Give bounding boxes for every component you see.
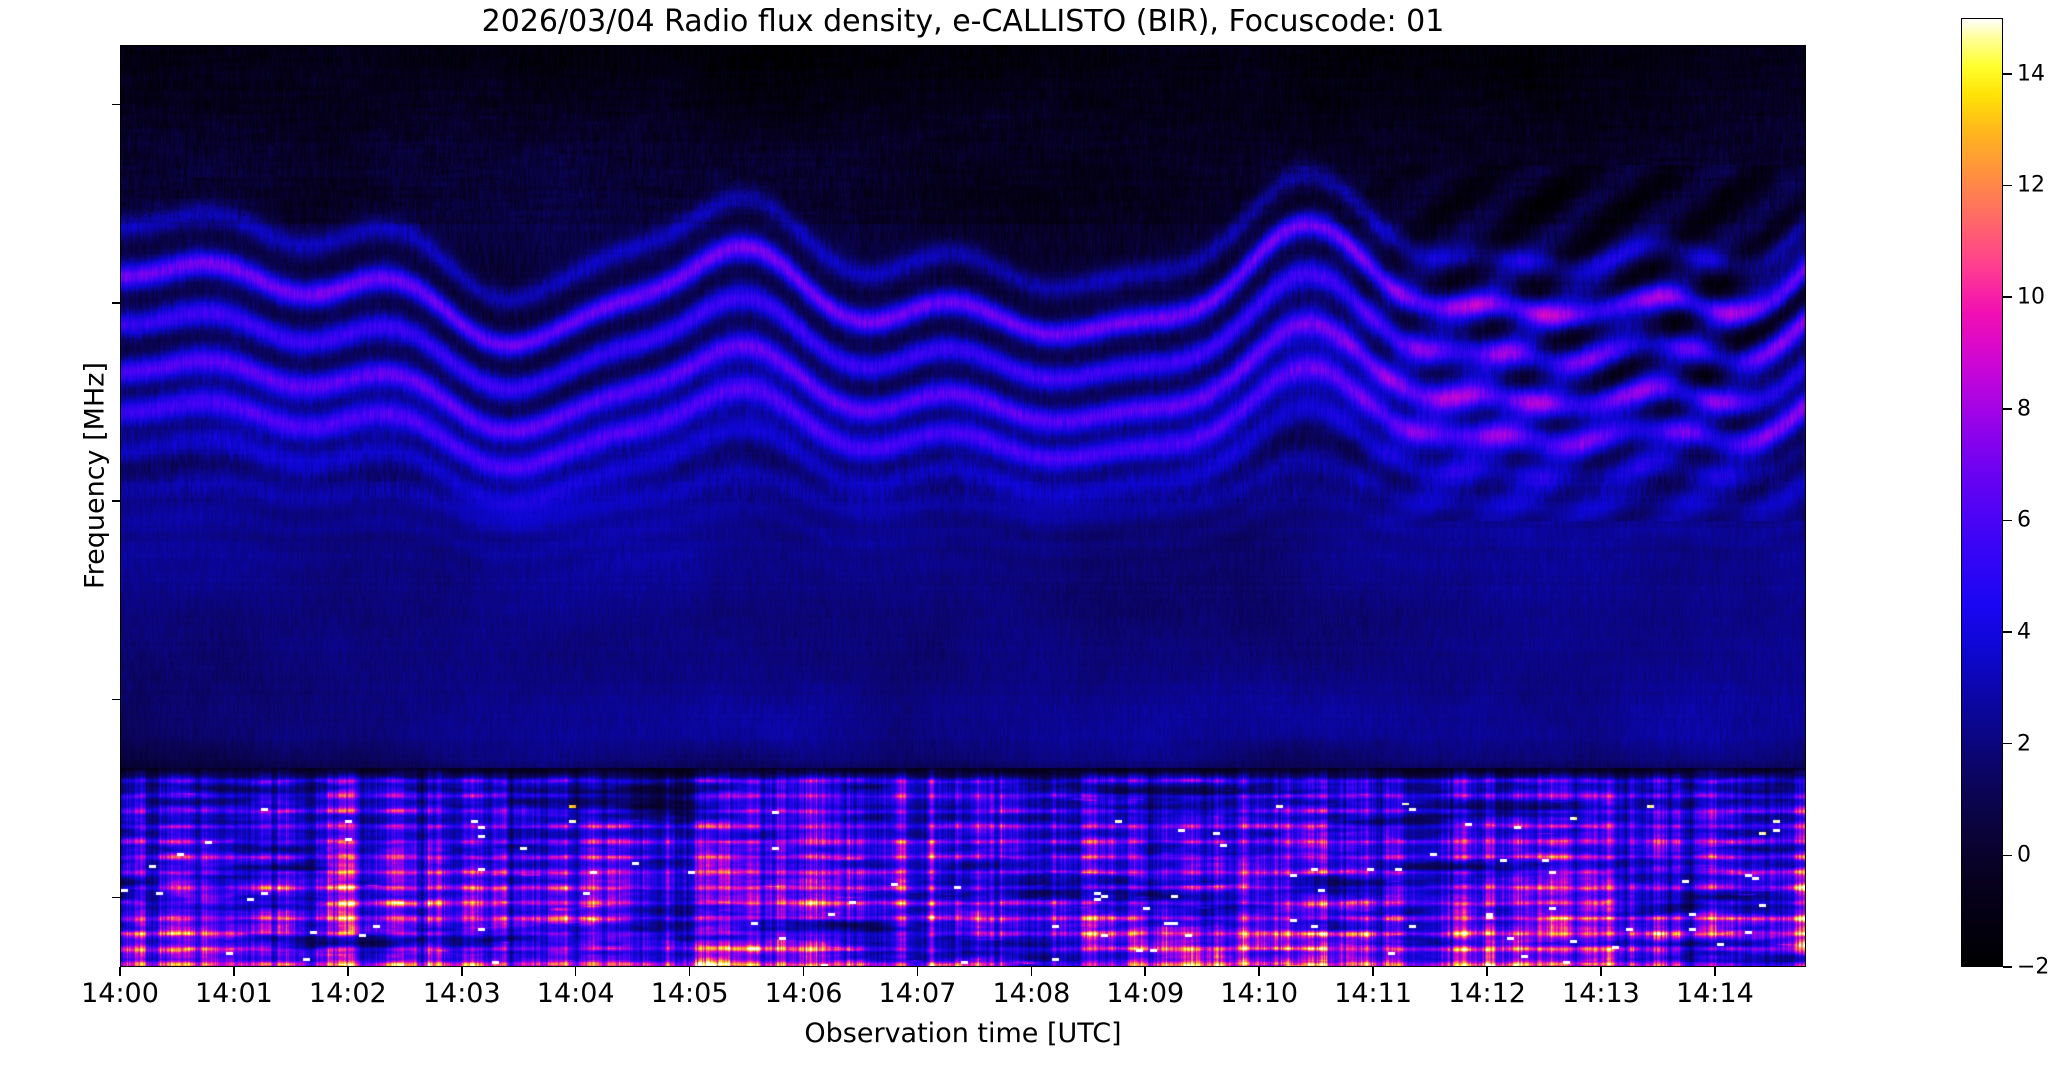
- x-tick-mark: [1372, 967, 1374, 976]
- colorbar-tick-mark: [2003, 73, 2012, 75]
- x-tick-mark: [1486, 967, 1488, 976]
- colorbar-tick-mark: [2003, 631, 2012, 633]
- colorbar-tick-label: 10: [2017, 285, 2045, 310]
- y-tick-mark: [112, 897, 121, 899]
- colorbar-gradient: [1961, 18, 2003, 967]
- y-tick-mark: [112, 302, 121, 304]
- y-tick-mark: [112, 104, 121, 106]
- colorbar-container: −202468101214: [1961, 18, 2003, 967]
- colorbar-tick-label: 12: [2017, 173, 2045, 198]
- page-title: 2026/03/04 Radio flux density, e-CALLIST…: [120, 4, 1806, 39]
- x-tick-mark: [1258, 967, 1260, 976]
- colorbar-tick-mark: [2003, 743, 2012, 745]
- x-tick-mark: [347, 967, 349, 976]
- colorbar-tick-mark: [2003, 520, 2012, 522]
- colorbar-tick-label: 4: [2017, 620, 2031, 645]
- y-tick-mark: [112, 500, 121, 502]
- x-tick-mark: [119, 967, 121, 976]
- colorbar-tick-label: 2: [2017, 731, 2031, 756]
- colorbar-tick-label: 6: [2017, 508, 2031, 533]
- x-tick-mark: [575, 967, 577, 976]
- colorbar-tick-label: 14: [2017, 61, 2045, 86]
- x-tick-mark: [689, 967, 691, 976]
- x-tick-mark: [1714, 967, 1716, 976]
- colorbar-tick-mark: [2003, 966, 2012, 968]
- x-tick-mark: [1600, 967, 1602, 976]
- x-tick-mark: [461, 967, 463, 976]
- colorbar-tick-mark: [2003, 296, 2012, 298]
- x-tick-mark: [917, 967, 919, 976]
- y-tick-mark: [112, 699, 121, 701]
- x-tick-mark: [233, 967, 235, 976]
- colorbar-tick-label: 0: [2017, 843, 2031, 868]
- colorbar-tick-mark: [2003, 185, 2012, 187]
- y-axis-label: Frequency [MHz]: [80, 26, 111, 926]
- colorbar-tick-mark: [2003, 408, 2012, 410]
- spectrogram-heatmap: [121, 46, 1805, 966]
- x-tick-mark: [1031, 967, 1033, 976]
- spectrogram-axes: [120, 45, 1806, 967]
- colorbar-tick-mark: [2003, 855, 2012, 857]
- x-tick-label: 14:14: [1635, 978, 1795, 1009]
- colorbar-tick-label: 8: [2017, 396, 2031, 421]
- x-tick-mark: [1144, 967, 1146, 976]
- x-axis-label: Observation time [UTC]: [120, 1018, 1806, 1049]
- x-tick-mark: [803, 967, 805, 976]
- colorbar-tick-label: −2: [2017, 955, 2049, 980]
- matplotlib-figure: 2026/03/04 Radio flux density, e-CALLIST…: [0, 0, 2066, 1067]
